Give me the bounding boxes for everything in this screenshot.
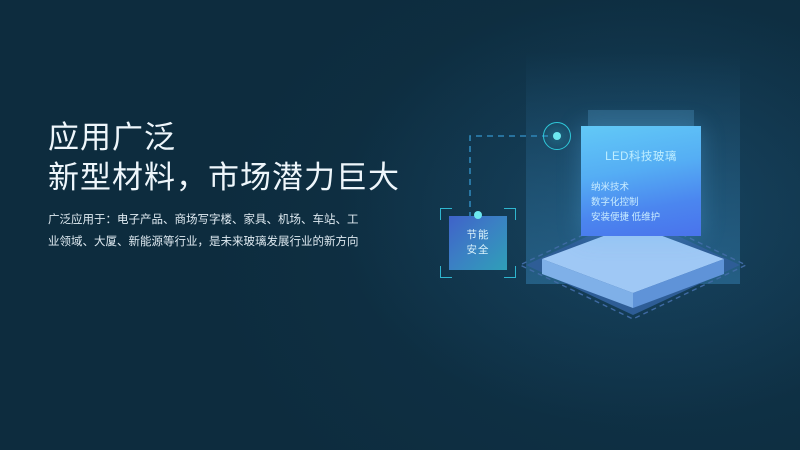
- badge-label-line-2: 安全: [467, 243, 490, 258]
- connector-node-dot: [553, 132, 561, 140]
- panel-feature-item: 数字化控制: [591, 195, 660, 210]
- headline-line-2: 新型材料，市场潜力巨大: [48, 158, 448, 198]
- badge-connector-dot: [474, 211, 482, 219]
- panel-feature-list: 纳米技术 数字化控制 安装便捷 低维护: [591, 180, 660, 225]
- panel-feature-item: 安装便捷 低维护: [591, 210, 660, 225]
- feature-badge: 节能 安全: [440, 208, 516, 278]
- panel-title: LED科技玻璃: [581, 148, 701, 164]
- text-block: 应用广泛 新型材料，市场潜力巨大 广泛应用于：电子产品、商场写字楼、家具、机场、…: [48, 118, 448, 253]
- panel-feature-item: 纳米技术: [591, 180, 660, 195]
- slide-canvas: 应用广泛 新型材料，市场潜力巨大 广泛应用于：电子产品、商场写字楼、家具、机场、…: [0, 0, 800, 450]
- headline-line-1: 应用广泛: [48, 118, 448, 158]
- badge-box: 节能 安全: [449, 216, 507, 270]
- body-paragraph: 广泛应用于：电子产品、商场写字楼、家具、机场、车站、工业领域、大厦、新能源等行业…: [48, 209, 368, 253]
- led-glass-panel: LED科技玻璃 纳米技术 数字化控制 安装便捷 低维护: [581, 126, 701, 236]
- badge-label-line-1: 节能: [467, 228, 490, 243]
